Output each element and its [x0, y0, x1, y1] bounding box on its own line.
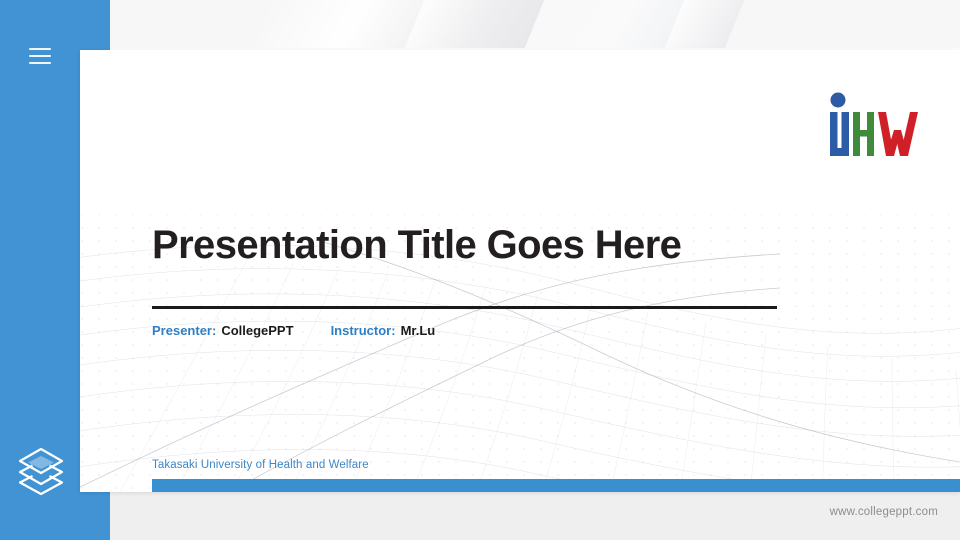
slide-canvas[interactable]: Presentation Title Goes Here Presenter: …: [80, 50, 960, 492]
presenter-label: Presenter:: [152, 323, 216, 338]
presenter-value: CollegePPT: [221, 323, 293, 338]
hamburger-icon[interactable]: [29, 48, 51, 64]
logo-dot: [831, 93, 846, 108]
instructor-label: Instructor:: [331, 323, 396, 338]
title-divider: [152, 306, 777, 309]
layers-icon[interactable]: [14, 443, 68, 497]
slide-accent-bar: [152, 479, 960, 492]
page-title: Presentation Title Goes Here: [152, 223, 681, 268]
top-background-band: [110, 0, 960, 50]
presentation-viewer: www.collegeppt.com: [0, 0, 960, 540]
organization-name: Takasaki University of Health and Welfar…: [152, 459, 369, 471]
tuhw-university-logo: [826, 90, 918, 162]
hamburger-line-3: [29, 62, 51, 64]
site-url[interactable]: www.collegeppt.com: [830, 506, 938, 518]
instructor-value: Mr.Lu: [401, 323, 436, 338]
hamburger-line-2: [29, 55, 51, 57]
hamburger-line-1: [29, 48, 51, 50]
slide-meta: Presenter: CollegePPT Instructor: Mr.Lu: [152, 323, 435, 338]
